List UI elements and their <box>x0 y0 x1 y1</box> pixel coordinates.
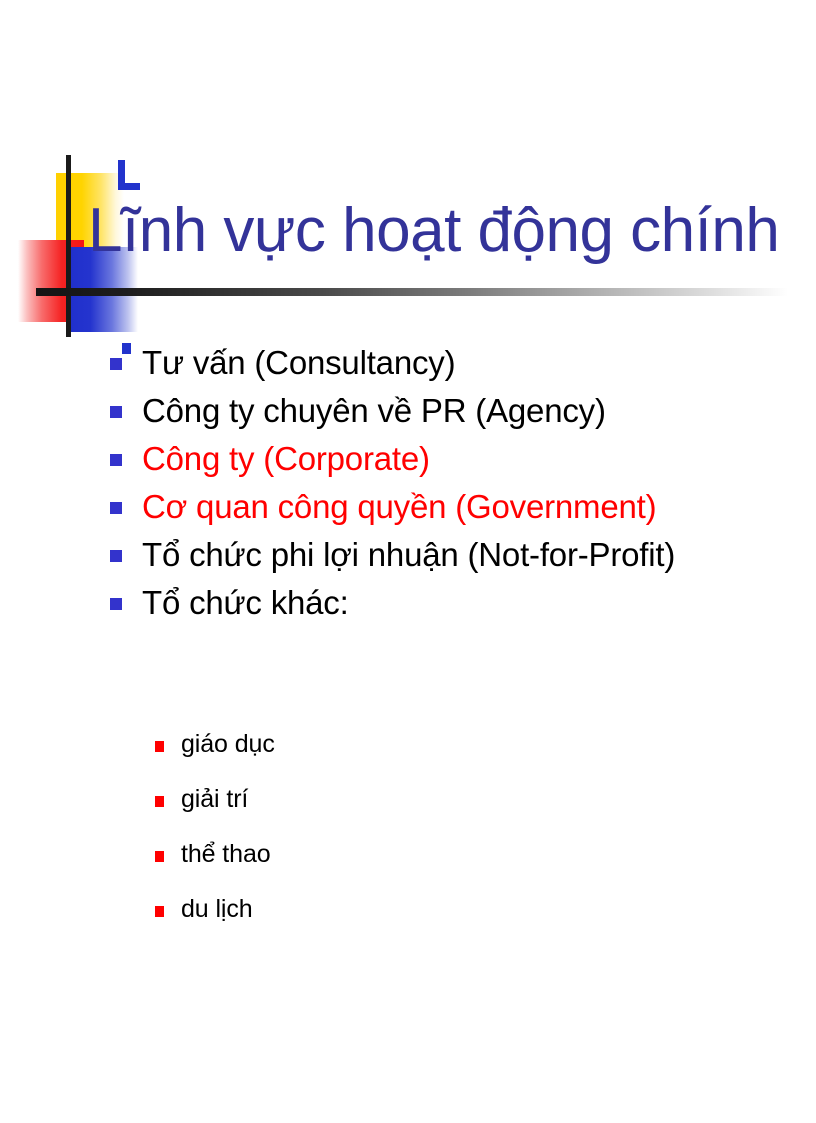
sub-list-item: thể thao <box>155 838 575 875</box>
sub-list-item: giáo dục <box>155 728 575 765</box>
sub-bullet-list: giáo dục giải trí thể thao du lịch <box>155 728 575 948</box>
small-square-bullet-icon <box>155 796 164 807</box>
slide-canvas: Lĩnh vực hoạt động chính Tư vấn (Consult… <box>0 0 816 1123</box>
bullet-label: Tổ chức phi lợi nhuận (Not-for-Profit) <box>142 534 675 576</box>
bullet-label: Công ty (Corporate) <box>142 438 430 480</box>
sub-bullet-label: du lịch <box>181 893 253 926</box>
decor-blue-elbow-icon <box>118 160 140 190</box>
small-square-bullet-icon <box>155 906 164 917</box>
bullet-label: Công ty chuyên về PR (Agency) <box>142 390 606 432</box>
slide-title: Lĩnh vực hoạt động chính <box>88 194 788 268</box>
bullet-list: Tư vấn (Consultancy) Công ty chuyên về P… <box>110 342 800 630</box>
sub-bullet-label: giáo dục <box>181 728 275 761</box>
small-square-bullet-icon <box>155 851 164 862</box>
list-item: Tư vấn (Consultancy) <box>110 342 800 384</box>
sub-list-item: du lịch <box>155 893 575 930</box>
list-item: Công ty chuyên về PR (Agency) <box>110 390 800 432</box>
bullet-label: Tư vấn (Consultancy) <box>142 342 455 384</box>
sub-bullet-label: thể thao <box>181 838 271 871</box>
list-item: Công ty (Corporate) <box>110 438 800 480</box>
vertical-rule <box>66 155 71 337</box>
square-bullet-icon <box>110 598 122 610</box>
square-bullet-icon <box>110 358 122 370</box>
square-bullet-icon <box>110 502 122 514</box>
small-square-bullet-icon <box>155 741 164 752</box>
sub-bullet-label: giải trí <box>181 783 248 816</box>
sub-list-item: giải trí <box>155 783 575 820</box>
square-bullet-icon <box>110 406 122 418</box>
square-bullet-icon <box>110 550 122 562</box>
horizontal-gradient-rule <box>36 288 788 296</box>
list-item: Tổ chức khác: <box>110 582 800 624</box>
bullet-label: Cơ quan công quyền (Government) <box>142 486 656 528</box>
list-item: Tổ chức phi lợi nhuận (Not-for-Profit) <box>110 534 800 576</box>
square-bullet-icon <box>110 454 122 466</box>
bullet-label: Tổ chức khác: <box>142 582 349 624</box>
list-item: Cơ quan công quyền (Government) <box>110 486 800 528</box>
